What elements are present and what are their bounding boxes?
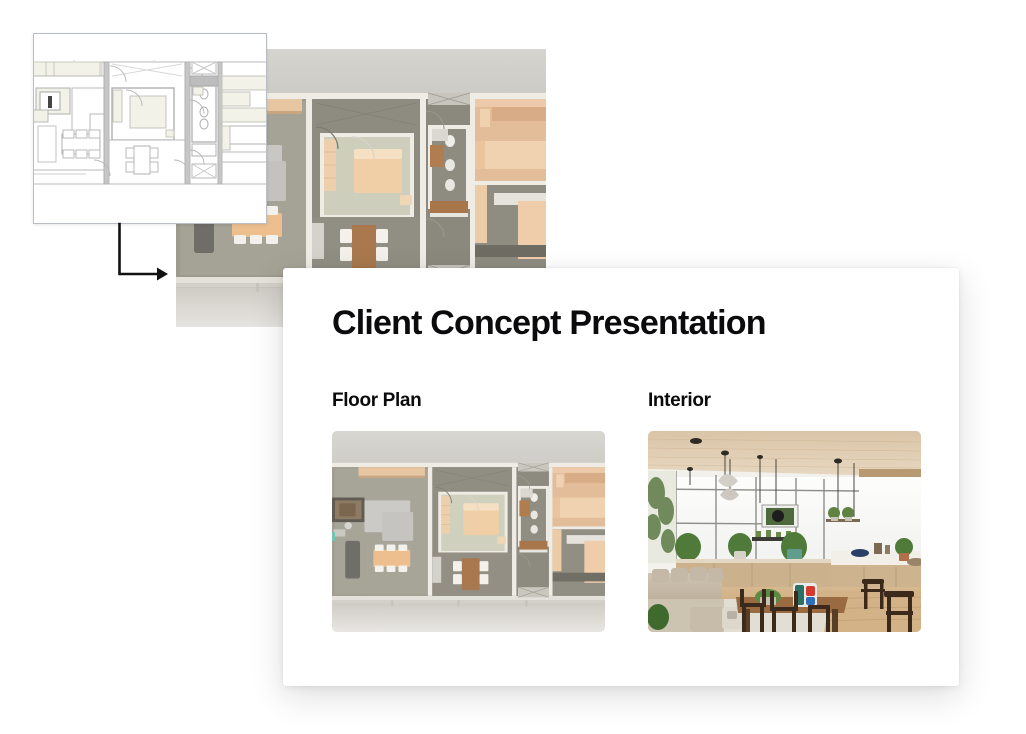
elbow-arrow xyxy=(112,216,180,284)
interior-photo-thumbnail[interactable] xyxy=(648,431,921,632)
slide-panels: Floor Plan xyxy=(332,388,922,632)
presentation-slide-card[interactable]: Client Concept Presentation Floor Plan xyxy=(283,268,959,686)
panel-interior: Interior xyxy=(648,388,921,632)
scene: Client Concept Presentation Floor Plan xyxy=(0,0,1026,734)
page-title: Client Concept Presentation xyxy=(332,301,766,345)
floor-plan-thumbnail[interactable] xyxy=(332,431,605,632)
panel-heading-interior: Interior xyxy=(648,388,921,414)
panel-floor-plan: Floor Plan xyxy=(332,388,605,632)
panel-heading-floor-plan: Floor Plan xyxy=(332,388,605,414)
architectural-floor-plan-linework[interactable] xyxy=(33,33,267,224)
